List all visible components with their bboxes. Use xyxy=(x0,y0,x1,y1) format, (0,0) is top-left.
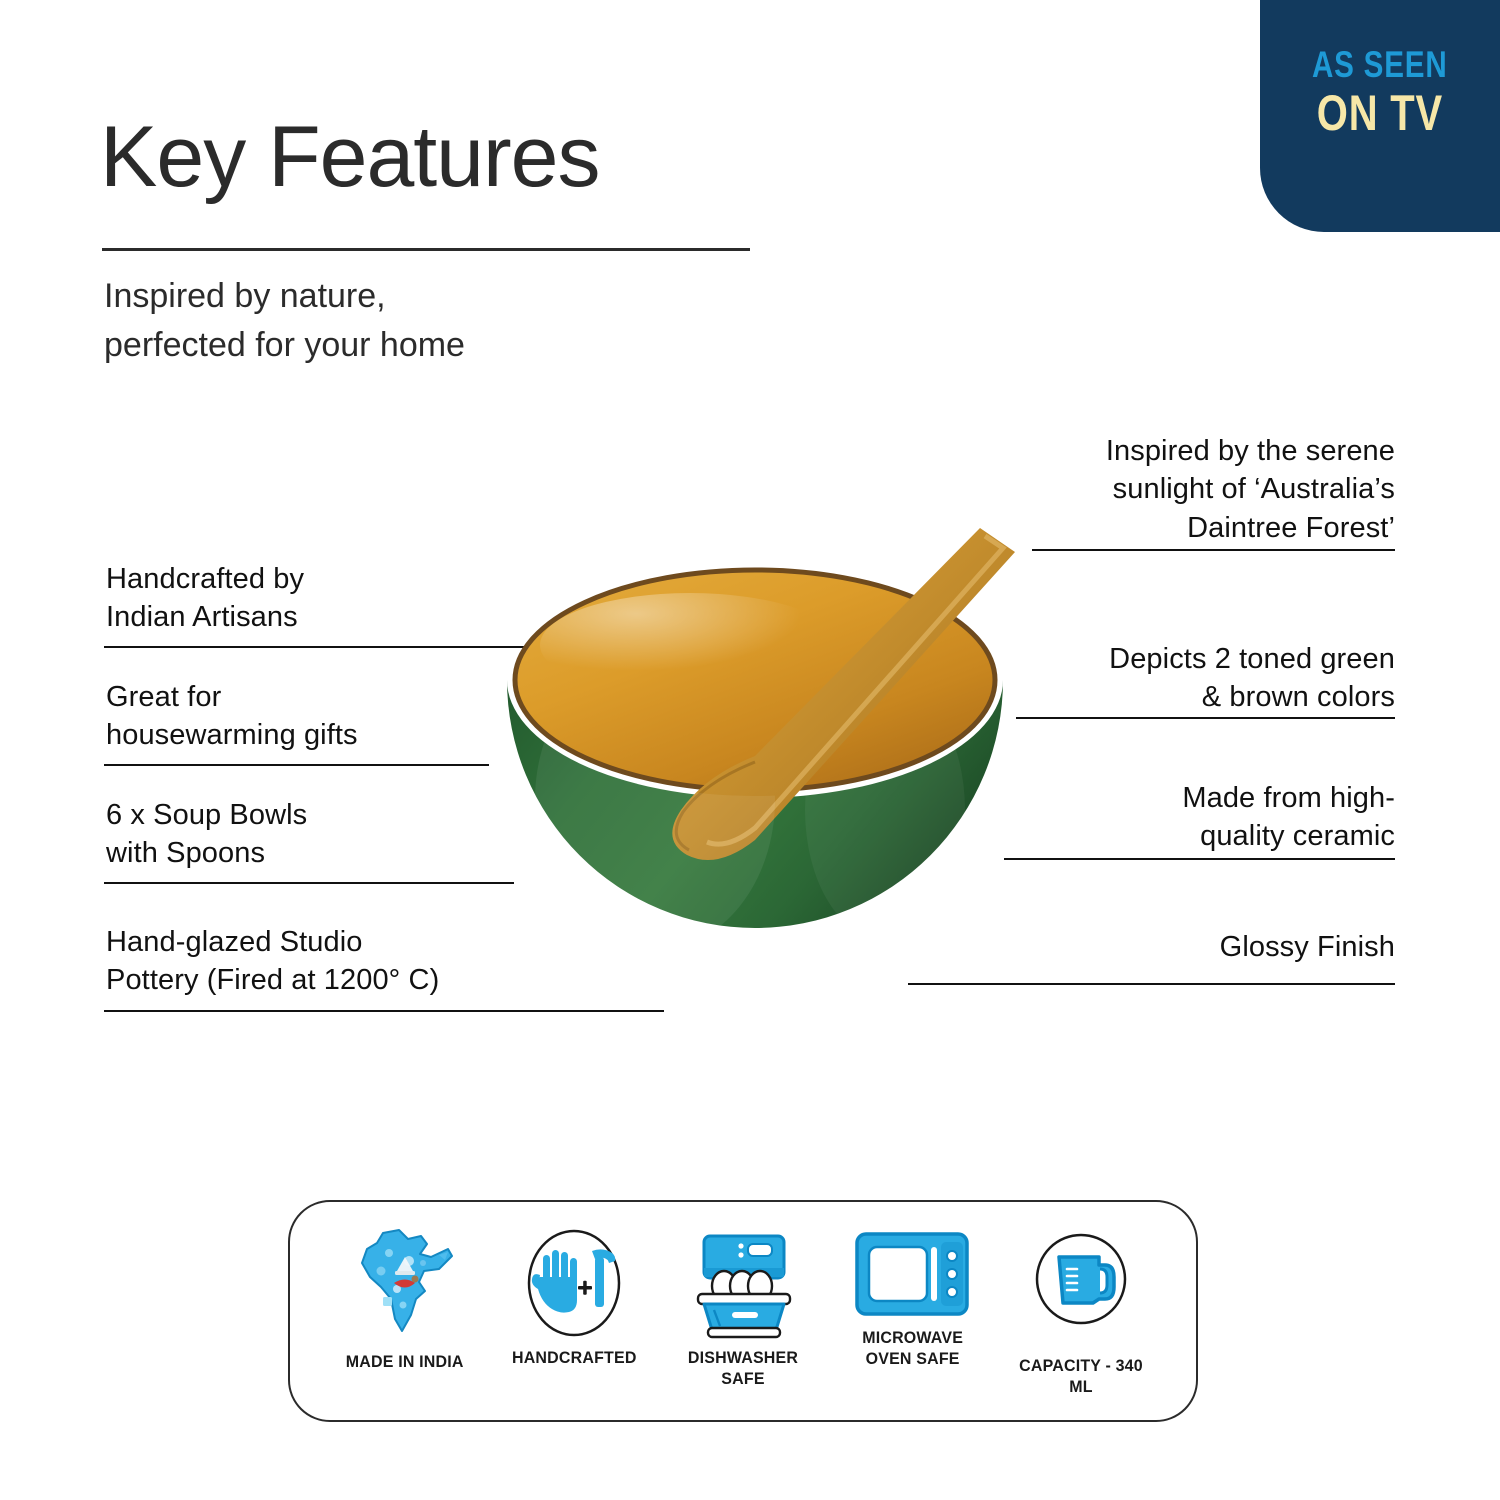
feature-right-4: Glossy Finish xyxy=(1220,928,1395,966)
badge-capacity: CAPACITY - 340 ML xyxy=(1001,1224,1161,1397)
product-image xyxy=(455,510,1055,1050)
feature-right-rule-3 xyxy=(1004,858,1395,860)
title-divider xyxy=(102,248,750,251)
page-title: Key Features xyxy=(100,112,599,202)
feature-right-2: Depicts 2 toned green & brown colors xyxy=(1109,640,1395,717)
feature-right-rule-2 xyxy=(1016,717,1395,719)
hand-hammer-icon xyxy=(518,1224,630,1342)
badge-label-handcrafted: HANDCRAFTED xyxy=(511,1348,636,1369)
badge-label-microwave-oven-safe: MICROWAVE OVEN SAFE xyxy=(862,1328,963,1369)
feature-left-rule-3 xyxy=(104,882,514,884)
measuring-jug-icon xyxy=(1025,1224,1137,1342)
as-seen-on-tv-badge: AS SEEN ON TV xyxy=(1260,0,1500,232)
badge-dishwasher-safe: DISHWASHER SAFE xyxy=(663,1224,823,1389)
interior-gloss xyxy=(540,593,840,697)
microwave-icon xyxy=(851,1224,973,1324)
feature-right-1: Inspired by the serene sunlight of ‘Aust… xyxy=(1106,432,1395,547)
page-subtitle: Inspired by nature, perfected for your h… xyxy=(104,272,465,371)
on-tv-label: ON TV xyxy=(1317,87,1443,140)
feature-left-rule-2 xyxy=(104,764,489,766)
badge-label-dishwasher-safe: DISHWASHER SAFE xyxy=(668,1348,818,1389)
badge-made-in-india: MADE IN INDIA xyxy=(325,1224,485,1373)
feature-right-3: Made from high- quality ceramic xyxy=(1182,779,1395,856)
infographic-page: AS SEEN ON TV Key Features Inspired by n… xyxy=(0,0,1500,1500)
certification-strip: MADE IN INDIA xyxy=(288,1200,1198,1422)
india-map-icon xyxy=(353,1224,457,1342)
feature-right-rule-1 xyxy=(1032,549,1395,551)
badge-label-capacity: CAPACITY - 340 ML xyxy=(1006,1356,1156,1397)
badge-handcrafted: HANDCRAFTED xyxy=(494,1224,654,1369)
bowl-illustration xyxy=(455,510,1055,1050)
feature-left-3: 6 x Soup Bowls with Spoons xyxy=(106,796,307,873)
badge-label-made-in-india: MADE IN INDIA xyxy=(346,1352,464,1373)
feature-left-4: Hand-glazed Studio Pottery (Fired at 120… xyxy=(106,923,439,1000)
badge-microwave-oven-safe: MICROWAVE OVEN SAFE xyxy=(832,1224,992,1369)
feature-left-1: Handcrafted by Indian Artisans xyxy=(106,560,304,637)
dishwasher-icon xyxy=(684,1224,802,1342)
feature-left-2: Great for housewarming gifts xyxy=(106,678,358,755)
as-seen-label: AS SEEN xyxy=(1312,46,1448,83)
